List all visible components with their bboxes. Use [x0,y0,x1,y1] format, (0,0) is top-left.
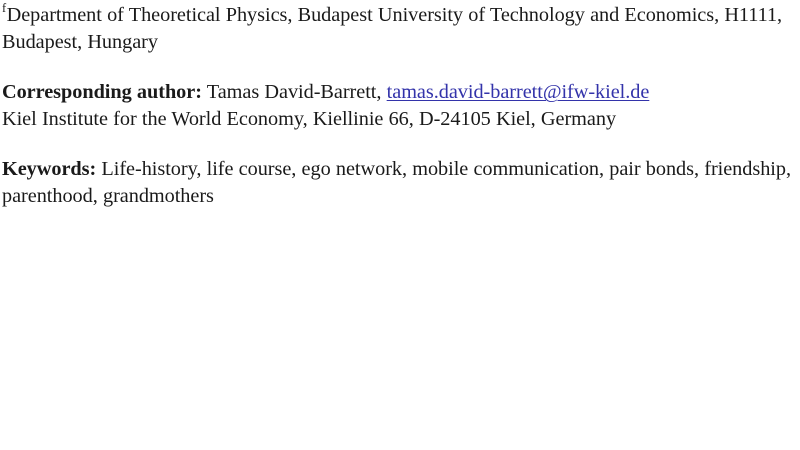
document-page: fDepartment of Theoretical Physics, Buda… [0,0,800,450]
corresponding-author-label: Corresponding author: [2,81,202,103]
keywords-label: Keywords: [2,158,96,180]
affiliation-footnote-marker: f [2,1,7,15]
keywords-block: Keywords: Life-history, life course, ego… [2,132,796,209]
corresponding-author-address: Kiel Institute for the World Economy, Ki… [2,108,616,130]
affiliation-block: fDepartment of Theoretical Physics, Buda… [2,0,796,55]
affiliation-text: Department of Theoretical Physics, Budap… [2,4,782,53]
corresponding-author-block: Corresponding author: Tamas David-Barret… [2,55,796,132]
keywords-text: Life-history, life course, ego network, … [2,158,791,207]
corresponding-author-email-link[interactable]: tamas.david-barrett@ifw-kiel.de [387,81,650,103]
corresponding-author-name: Tamas David-Barrett, [207,81,382,103]
